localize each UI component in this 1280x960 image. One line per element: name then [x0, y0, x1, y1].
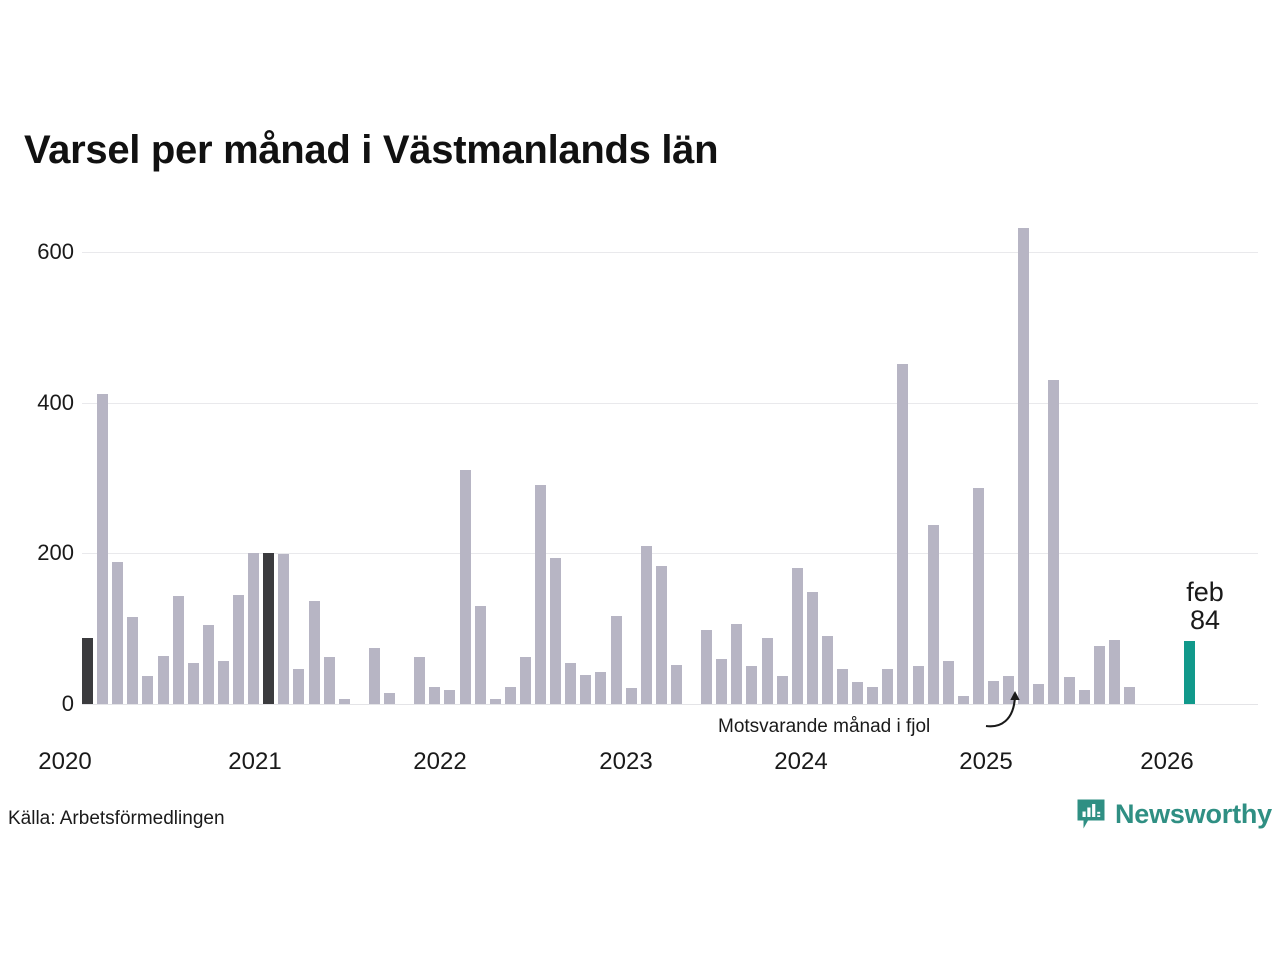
- annotation-label: Motsvarande månad i fjol: [718, 716, 930, 738]
- bar-2021-11[interactable]: [414, 657, 425, 704]
- bar-2021-02[interactable]: [278, 554, 289, 704]
- bar-2024-11[interactable]: [958, 696, 969, 704]
- bar-2023-08[interactable]: [731, 624, 742, 704]
- brand-name: Newsworthy: [1115, 799, 1272, 830]
- bar-2024-08[interactable]: [913, 666, 924, 704]
- bar-2020-06[interactable]: [158, 656, 169, 704]
- bar-2025-01[interactable]: [988, 681, 999, 704]
- bar-2021-05[interactable]: [324, 657, 335, 704]
- bar-2021-06[interactable]: [339, 699, 350, 704]
- bar-2025-09[interactable]: [1109, 640, 1120, 704]
- callout-value: 84: [1186, 606, 1224, 634]
- bar-2020-01[interactable]: [82, 638, 93, 704]
- bar-2021-01[interactable]: [263, 553, 274, 704]
- bar-2021-12[interactable]: [429, 687, 440, 704]
- bar-2025-08[interactable]: [1094, 646, 1105, 704]
- gridline-0: [82, 704, 1258, 705]
- bar-2021-08[interactable]: [369, 648, 380, 705]
- bar-2020-02[interactable]: [97, 394, 108, 704]
- bar-2022-06[interactable]: [520, 657, 531, 704]
- bar-2020-11[interactable]: [233, 595, 244, 704]
- bar-2022-01[interactable]: [444, 690, 455, 704]
- bar-2024-04[interactable]: [852, 682, 863, 704]
- x-axis-tick-2024: 2024: [774, 748, 827, 776]
- bar-2025-05[interactable]: [1048, 380, 1059, 704]
- y-axis-tick-200: 200: [0, 540, 74, 566]
- plot-area: [82, 252, 1258, 704]
- bar-2023-02[interactable]: [641, 546, 652, 704]
- bar-2025-04[interactable]: [1033, 684, 1044, 704]
- bar-2020-04[interactable]: [127, 617, 138, 704]
- bar-2024-12[interactable]: [973, 488, 984, 704]
- x-axis-tick-2025: 2025: [959, 748, 1012, 776]
- y-axis-tick-0: 0: [0, 691, 74, 717]
- bar-2021-03[interactable]: [293, 669, 304, 704]
- bar-2022-11[interactable]: [595, 672, 606, 704]
- bar-2025-03[interactable]: [1018, 228, 1029, 704]
- newsworthy-bubble-chart-logo-icon: [1076, 798, 1106, 830]
- bar-2023-09[interactable]: [746, 666, 757, 704]
- source-note: Källa: Arbetsförmedlingen: [8, 808, 225, 830]
- bar-2025-02[interactable]: [1003, 676, 1014, 704]
- bar-series: [82, 252, 1258, 704]
- bar-2023-06[interactable]: [701, 630, 712, 704]
- bar-2020-09[interactable]: [203, 625, 214, 704]
- bar-2023-11[interactable]: [777, 676, 788, 704]
- bar-2023-07[interactable]: [716, 659, 727, 704]
- bar-2025-10[interactable]: [1124, 687, 1135, 704]
- bar-2020-07[interactable]: [173, 596, 184, 704]
- bar-2022-04[interactable]: [490, 699, 501, 704]
- bar-2023-01[interactable]: [626, 688, 637, 704]
- bar-2024-06[interactable]: [882, 669, 893, 704]
- bar-2022-09[interactable]: [565, 663, 576, 704]
- bar-2022-05[interactable]: [505, 687, 516, 704]
- bar-2023-03[interactable]: [656, 566, 667, 704]
- bar-2024-03[interactable]: [837, 669, 848, 704]
- bar-2024-05[interactable]: [867, 687, 878, 704]
- bar-2022-12[interactable]: [611, 616, 622, 704]
- bar-2024-02[interactable]: [822, 636, 833, 704]
- bar-2022-07[interactable]: [535, 485, 546, 704]
- bar-2022-02[interactable]: [460, 470, 471, 704]
- page-title: Varsel per månad i Västmanlands län: [24, 128, 718, 173]
- bar-2020-05[interactable]: [142, 676, 153, 704]
- bar-2026-02[interactable]: [1184, 641, 1195, 704]
- highlight-callout: feb 84: [1186, 578, 1224, 635]
- bar-2024-10[interactable]: [943, 661, 954, 704]
- y-axis-tick-400: 400: [0, 390, 74, 416]
- x-axis-tick-2023: 2023: [599, 748, 652, 776]
- bar-2023-04[interactable]: [671, 665, 682, 704]
- bar-2025-07[interactable]: [1079, 690, 1090, 704]
- bar-2020-12[interactable]: [248, 553, 259, 704]
- bar-2021-04[interactable]: [309, 601, 320, 704]
- bar-2022-03[interactable]: [475, 606, 486, 704]
- bar-2020-10[interactable]: [218, 661, 229, 704]
- callout-month: feb: [1186, 578, 1224, 606]
- bar-2025-06[interactable]: [1064, 677, 1075, 704]
- x-axis-tick-2021: 2021: [228, 748, 281, 776]
- x-axis-tick-2020: 2020: [38, 748, 91, 776]
- bar-2020-03[interactable]: [112, 562, 123, 704]
- bar-2022-08[interactable]: [550, 558, 561, 704]
- x-axis-tick-2026: 2026: [1140, 748, 1193, 776]
- bar-2024-09[interactable]: [928, 525, 939, 704]
- newsworthy-logo[interactable]: Newsworthy: [1076, 798, 1272, 830]
- bar-2024-01[interactable]: [807, 592, 818, 704]
- chart-page: Varsel per månad i Västmanlands län 0200…: [0, 0, 1280, 960]
- bar-2023-12[interactable]: [792, 568, 803, 704]
- bar-2020-08[interactable]: [188, 663, 199, 704]
- bar-2022-10[interactable]: [580, 675, 591, 704]
- x-axis-tick-2022: 2022: [413, 748, 466, 776]
- y-axis-tick-600: 600: [0, 239, 74, 265]
- bar-2023-10[interactable]: [762, 638, 773, 704]
- bar-2021-09[interactable]: [384, 693, 395, 704]
- bar-2024-07[interactable]: [897, 364, 908, 705]
